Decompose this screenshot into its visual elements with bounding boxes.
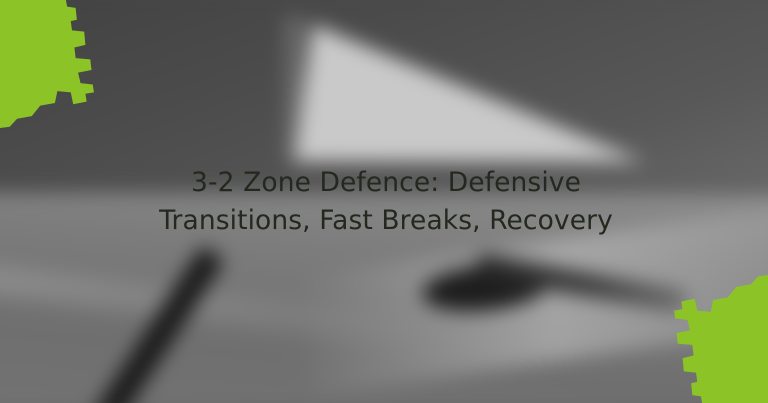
page-title: 3-2 Zone Defence: Defensive Transitions,… — [118, 125, 654, 278]
featured-image-canvas: 3-2 Zone Defence: Defensive Transitions,… — [0, 0, 768, 403]
